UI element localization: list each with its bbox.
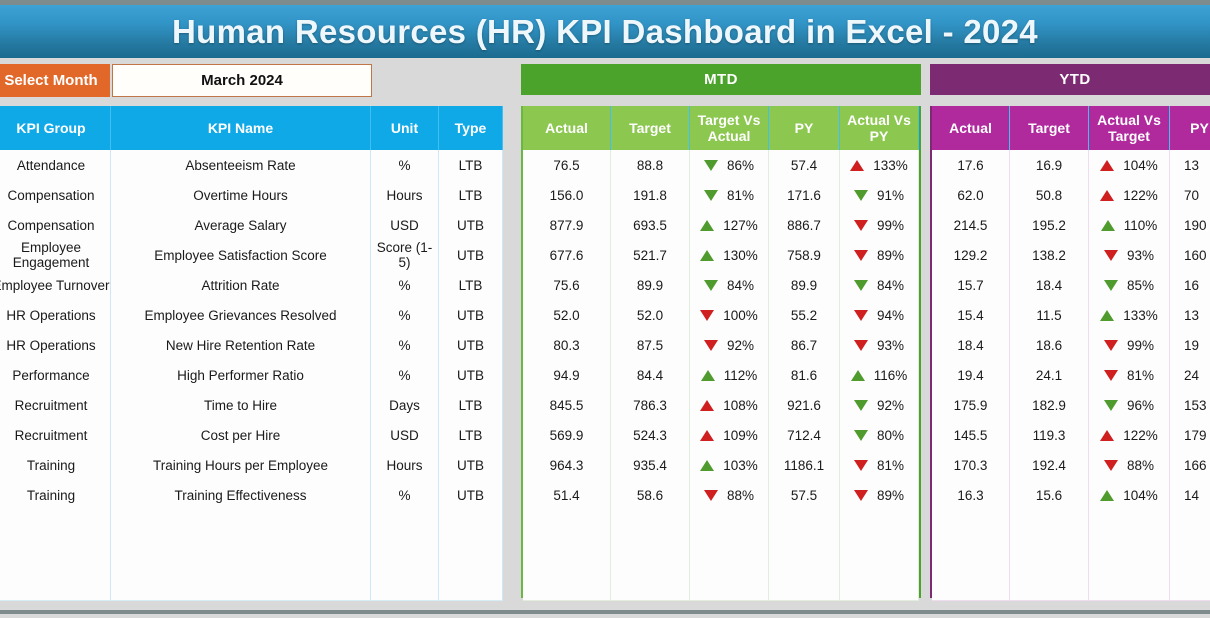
ytd-actual: 17.6: [932, 150, 1010, 180]
table-cell-group: Employee Engagement: [0, 240, 111, 270]
ytd-actual: 175.9: [932, 390, 1010, 420]
table-cell-type: UTB: [439, 210, 503, 240]
select-month-label: Select Month: [0, 64, 110, 97]
delta-percent: 85%: [1127, 278, 1154, 293]
ytd-py: 160: [1170, 240, 1210, 270]
mtd-column-header-target[interactable]: Target: [611, 106, 690, 150]
table-cell-group: Employee Turnover: [0, 270, 111, 300]
mtd-cell-empty: [769, 570, 840, 600]
delta-percent: 99%: [877, 218, 904, 233]
arrow-down-icon: [704, 280, 718, 291]
table-cell-unit: Days: [371, 390, 439, 420]
table-cell-group: Recruitment: [0, 420, 111, 450]
mtd-cell-empty: [769, 510, 840, 540]
arrow-down-icon: [704, 490, 718, 501]
ytd-actual-vs-target: 122%: [1089, 420, 1170, 450]
table-cell-empty: [439, 540, 503, 570]
ytd-column-header-py[interactable]: PY: [1170, 106, 1210, 150]
table-cell-empty: [439, 570, 503, 600]
arrow-up-icon: [1100, 430, 1114, 441]
table-cell-name: Cost per Hire: [111, 420, 371, 450]
ytd-actual-vs-target: 93%: [1089, 240, 1170, 270]
ytd-target: 15.6: [1010, 480, 1089, 510]
arrow-down-icon: [854, 430, 868, 441]
mtd-cell-empty: [690, 540, 769, 570]
mtd-py: 55.2: [769, 300, 840, 330]
ytd-column-header-target[interactable]: Target: [1010, 106, 1089, 150]
mtd-target-vs-actual: 84%: [690, 270, 769, 300]
table-cell-empty: [0, 570, 111, 600]
delta-percent: 81%: [727, 188, 754, 203]
mtd-target: 935.4: [611, 450, 690, 480]
mtd-band-label: MTD: [521, 64, 921, 95]
mtd-target: 693.5: [611, 210, 690, 240]
mtd-column-header-actual[interactable]: Actual: [523, 106, 611, 150]
arrow-up-icon: [700, 220, 714, 231]
mtd-target-vs-actual: 127%: [690, 210, 769, 240]
mtd-target-vs-actual: 112%: [690, 360, 769, 390]
ytd-actual: 15.7: [932, 270, 1010, 300]
ytd-cell-empty: [1170, 540, 1210, 570]
mtd-actual-vs-py: 80%: [840, 420, 919, 450]
table-cell-group: Compensation: [0, 210, 111, 240]
ytd-py: 166: [1170, 450, 1210, 480]
ytd-cell-empty: [1010, 540, 1089, 570]
mtd-actual: 569.9: [523, 420, 611, 450]
table-cell-type: UTB: [439, 240, 503, 270]
table-cell-group: Training: [0, 450, 111, 480]
arrow-up-icon: [1100, 160, 1114, 171]
ytd-cell-empty: [932, 540, 1010, 570]
delta-percent: 89%: [877, 248, 904, 263]
table-cell-type: LTB: [439, 270, 503, 300]
mtd-actual: 677.6: [523, 240, 611, 270]
arrow-down-icon: [854, 250, 868, 261]
delta-percent: 92%: [877, 398, 904, 413]
mtd-py: 886.7: [769, 210, 840, 240]
arrow-up-icon: [701, 370, 715, 381]
arrow-down-icon: [854, 400, 868, 411]
arrow-up-icon: [1100, 490, 1114, 501]
mtd-cell-empty: [523, 540, 611, 570]
table-cell-type: UTB: [439, 450, 503, 480]
delta-percent: 112%: [724, 368, 758, 383]
delta-percent: 81%: [1127, 368, 1154, 383]
ytd-cell-empty: [932, 570, 1010, 600]
dashboard-title-bar: Human Resources (HR) KPI Dashboard in Ex…: [0, 5, 1210, 58]
ytd-actual-vs-target: 104%: [1089, 480, 1170, 510]
table-cell-type: UTB: [439, 480, 503, 510]
mtd-table: ActualTargetTarget Vs ActualPYActual Vs …: [521, 106, 921, 598]
mtd-column-header-py[interactable]: PY: [769, 106, 840, 150]
delta-percent: 84%: [727, 278, 754, 293]
arrow-down-icon: [700, 310, 714, 321]
table-cell-unit: Hours: [371, 180, 439, 210]
mtd-cell-empty: [611, 510, 690, 540]
table-cell-unit: %: [371, 480, 439, 510]
arrow-down-icon: [1104, 250, 1118, 261]
ytd-actual-vs-target: 110%: [1089, 210, 1170, 240]
mtd-target-vs-actual: 88%: [690, 480, 769, 510]
mtd-py: 57.4: [769, 150, 840, 180]
mtd-target-vs-actual: 86%: [690, 150, 769, 180]
delta-percent: 91%: [877, 188, 904, 203]
mtd-target: 87.5: [611, 330, 690, 360]
mtd-actual-vs-py: 89%: [840, 240, 919, 270]
delta-percent: 88%: [727, 488, 754, 503]
arrow-up-icon: [1100, 190, 1114, 201]
table-cell-unit: %: [371, 150, 439, 180]
ytd-actual: 16.3: [932, 480, 1010, 510]
ytd-py: 24: [1170, 360, 1210, 390]
ytd-cell-empty: [1089, 510, 1170, 540]
ytd-actual-vs-target: 133%: [1089, 300, 1170, 330]
arrow-up-icon: [700, 250, 714, 261]
ytd-table: ActualTargetActual Vs TargetPY 17.616.91…: [930, 106, 1210, 598]
ytd-band-label: YTD: [930, 64, 1210, 95]
ytd-py: 14: [1170, 480, 1210, 510]
table-cell-group: Recruitment: [0, 390, 111, 420]
mtd-target-vs-actual: 81%: [690, 180, 769, 210]
ytd-cell-empty: [1010, 510, 1089, 540]
ytd-column-header-actual[interactable]: Actual: [932, 106, 1010, 150]
arrow-down-icon: [854, 280, 868, 291]
mtd-actual: 964.3: [523, 450, 611, 480]
table-cell-type: LTB: [439, 390, 503, 420]
delta-percent: 104%: [1123, 488, 1158, 503]
kpi-info-header-row: KPI GroupKPI NameUnitType: [0, 106, 503, 150]
delta-percent: 109%: [723, 428, 758, 443]
ytd-py: 16: [1170, 270, 1210, 300]
delta-percent: 108%: [723, 398, 758, 413]
table-cell-name: New Hire Retention Rate: [111, 330, 371, 360]
arrow-down-icon: [854, 220, 868, 231]
table-cell-unit: %: [371, 360, 439, 390]
delta-percent: 122%: [1123, 188, 1158, 203]
mtd-target: 84.4: [611, 360, 690, 390]
ytd-target: 50.8: [1010, 180, 1089, 210]
table-cell-group: Performance: [0, 360, 111, 390]
delta-percent: 127%: [723, 218, 758, 233]
delta-percent: 104%: [1123, 158, 1158, 173]
mtd-actual-vs-py: 99%: [840, 210, 919, 240]
ytd-target: 195.2: [1010, 210, 1089, 240]
table-cell-empty: [439, 510, 503, 540]
delta-percent: 122%: [1123, 428, 1158, 443]
ytd-actual: 129.2: [932, 240, 1010, 270]
delta-percent: 92%: [727, 338, 754, 353]
table-cell-name: Time to Hire: [111, 390, 371, 420]
mtd-target-vs-actual: 103%: [690, 450, 769, 480]
page-title: Human Resources (HR) KPI Dashboard in Ex…: [172, 13, 1038, 51]
table-cell-name: Training Hours per Employee: [111, 450, 371, 480]
delta-percent: 94%: [877, 308, 904, 323]
delta-percent: 100%: [723, 308, 758, 323]
mtd-cell-empty: [523, 570, 611, 600]
ytd-actual-vs-target: 96%: [1089, 390, 1170, 420]
mtd-target-vs-actual: 109%: [690, 420, 769, 450]
table-cell-unit: Hours: [371, 450, 439, 480]
ytd-cell-empty: [1170, 570, 1210, 600]
ytd-target: 24.1: [1010, 360, 1089, 390]
mtd-target: 89.9: [611, 270, 690, 300]
ytd-actual: 15.4: [932, 300, 1010, 330]
delta-percent: 96%: [1127, 398, 1154, 413]
ytd-target: 192.4: [1010, 450, 1089, 480]
ytd-cell-empty: [1089, 570, 1170, 600]
mtd-target-vs-actual: 108%: [690, 390, 769, 420]
mtd-py: 89.9: [769, 270, 840, 300]
mtd-target: 52.0: [611, 300, 690, 330]
table-cell-name: Attrition Rate: [111, 270, 371, 300]
column-header-type[interactable]: Type: [439, 106, 503, 150]
mtd-actual: 156.0: [523, 180, 611, 210]
ytd-cell-empty: [932, 510, 1010, 540]
mtd-target: 58.6: [611, 480, 690, 510]
mtd-column-header-actual-vs-py[interactable]: Actual Vs PY: [840, 106, 919, 150]
column-header-unit[interactable]: Unit: [371, 106, 439, 150]
ytd-target: 138.2: [1010, 240, 1089, 270]
arrow-down-icon: [854, 190, 868, 201]
table-cell-unit: USD: [371, 210, 439, 240]
arrow-up-icon: [1100, 310, 1114, 321]
mtd-actual-vs-py: 84%: [840, 270, 919, 300]
arrow-down-icon: [704, 160, 718, 171]
ytd-target: 18.4: [1010, 270, 1089, 300]
table-cell-group: HR Operations: [0, 300, 111, 330]
mtd-target: 521.7: [611, 240, 690, 270]
arrow-down-icon: [1104, 400, 1118, 411]
delta-percent: 133%: [873, 158, 908, 173]
mtd-actual-vs-py: 89%: [840, 480, 919, 510]
arrow-down-icon: [1104, 460, 1118, 471]
delta-percent: 88%: [1127, 458, 1154, 473]
delta-percent: 86%: [727, 158, 754, 173]
arrow-up-icon: [700, 460, 714, 471]
mtd-cell-empty: [611, 540, 690, 570]
mtd-cell-empty: [840, 570, 919, 600]
ytd-column-header-actual-vs-target[interactable]: Actual Vs Target: [1089, 106, 1170, 150]
mtd-cell-empty: [840, 510, 919, 540]
table-cell-unit: %: [371, 300, 439, 330]
arrow-up-icon: [700, 430, 714, 441]
arrow-down-icon: [854, 340, 868, 351]
ytd-actual-vs-target: 104%: [1089, 150, 1170, 180]
mtd-target: 191.8: [611, 180, 690, 210]
ytd-target: 182.9: [1010, 390, 1089, 420]
ytd-target: 18.6: [1010, 330, 1089, 360]
table-cell-unit: %: [371, 270, 439, 300]
table-cell-type: LTB: [439, 180, 503, 210]
ytd-actual: 145.5: [932, 420, 1010, 450]
mtd-py: 81.6: [769, 360, 840, 390]
mtd-cell-empty: [611, 570, 690, 600]
mtd-py: 921.6: [769, 390, 840, 420]
table-cell-type: LTB: [439, 150, 503, 180]
ytd-py: 190: [1170, 210, 1210, 240]
bottom-divider: [0, 610, 1210, 614]
ytd-actual-vs-target: 88%: [1089, 450, 1170, 480]
table-cell-type: UTB: [439, 330, 503, 360]
table-cell-name: Training Effectiveness: [111, 480, 371, 510]
delta-percent: 93%: [1127, 248, 1154, 263]
table-cell-type: UTB: [439, 300, 503, 330]
ytd-py: 13: [1170, 300, 1210, 330]
table-cell-name: Employee Satisfaction Score: [111, 240, 371, 270]
arrow-down-icon: [704, 340, 718, 351]
mtd-target: 88.8: [611, 150, 690, 180]
table-cell-unit: %: [371, 330, 439, 360]
table-cell-empty: [371, 510, 439, 540]
arrow-up-icon: [851, 370, 865, 381]
table-cell-name: Employee Grievances Resolved: [111, 300, 371, 330]
mtd-py: 712.4: [769, 420, 840, 450]
row-separator: [932, 600, 1210, 601]
table-cell-group: Attendance: [0, 150, 111, 180]
mtd-target: 786.3: [611, 390, 690, 420]
select-month-dropdown[interactable]: March 2024: [112, 64, 372, 97]
ytd-py: 70: [1170, 180, 1210, 210]
column-header-kpi-name[interactable]: KPI Name: [111, 106, 371, 150]
table-cell-unit: Score (1-5): [371, 240, 439, 270]
arrow-up-icon: [700, 400, 714, 411]
mtd-cell-empty: [523, 510, 611, 540]
arrow-down-icon: [1104, 340, 1118, 351]
mtd-py: 86.7: [769, 330, 840, 360]
mtd-cell-empty: [769, 540, 840, 570]
mtd-actual-vs-py: 94%: [840, 300, 919, 330]
ytd-target: 119.3: [1010, 420, 1089, 450]
table-cell-empty: [371, 570, 439, 600]
mtd-target-vs-actual: 92%: [690, 330, 769, 360]
delta-percent: 81%: [877, 458, 904, 473]
delta-percent: 133%: [1123, 308, 1158, 323]
mtd-actual: 845.5: [523, 390, 611, 420]
arrow-up-icon: [850, 160, 864, 171]
ytd-actual: 18.4: [932, 330, 1010, 360]
column-header-kpi-group[interactable]: KPI Group: [0, 106, 111, 150]
ytd-actual: 170.3: [932, 450, 1010, 480]
arrow-down-icon: [854, 490, 868, 501]
mtd-column-header-target-vs-actual[interactable]: Target Vs Actual: [690, 106, 769, 150]
mtd-actual: 52.0: [523, 300, 611, 330]
mtd-target-vs-actual: 130%: [690, 240, 769, 270]
delta-percent: 116%: [874, 368, 908, 383]
ytd-py: 153: [1170, 390, 1210, 420]
mtd-actual: 80.3: [523, 330, 611, 360]
delta-percent: 99%: [1127, 338, 1154, 353]
ytd-actual: 62.0: [932, 180, 1010, 210]
delta-percent: 110%: [1124, 218, 1158, 233]
mtd-actual-vs-py: 93%: [840, 330, 919, 360]
delta-percent: 84%: [877, 278, 904, 293]
arrow-down-icon: [1104, 280, 1118, 291]
mtd-actual: 51.4: [523, 480, 611, 510]
table-cell-group: HR Operations: [0, 330, 111, 360]
table-cell-empty: [111, 510, 371, 540]
mtd-target: 524.3: [611, 420, 690, 450]
delta-percent: 80%: [877, 428, 904, 443]
mtd-actual-vs-py: 133%: [840, 150, 919, 180]
ytd-py: 19: [1170, 330, 1210, 360]
table-cell-type: UTB: [439, 360, 503, 390]
delta-percent: 130%: [723, 248, 758, 263]
table-cell-group: Compensation: [0, 180, 111, 210]
table-cell-empty: [0, 510, 111, 540]
table-cell-empty: [0, 540, 111, 570]
mtd-py: 171.6: [769, 180, 840, 210]
mtd-cell-empty: [690, 570, 769, 600]
ytd-actual: 214.5: [932, 210, 1010, 240]
ytd-actual-vs-target: 99%: [1089, 330, 1170, 360]
ytd-py: 179: [1170, 420, 1210, 450]
mtd-cell-empty: [690, 510, 769, 540]
mtd-py: 1186.1: [769, 450, 840, 480]
arrow-down-icon: [704, 190, 718, 201]
table-cell-group: Training: [0, 480, 111, 510]
delta-percent: 89%: [877, 488, 904, 503]
arrow-down-icon: [854, 310, 868, 321]
table-cell-type: LTB: [439, 420, 503, 450]
ytd-actual-vs-target: 122%: [1089, 180, 1170, 210]
arrow-down-icon: [1104, 370, 1118, 381]
mtd-actual: 75.6: [523, 270, 611, 300]
table-cell-name: High Performer Ratio: [111, 360, 371, 390]
ytd-cell-empty: [1170, 510, 1210, 540]
dashboard-root: Human Resources (HR) KPI Dashboard in Ex…: [0, 0, 1210, 618]
ytd-actual: 19.4: [932, 360, 1010, 390]
mtd-target-vs-actual: 100%: [690, 300, 769, 330]
ytd-actual-vs-target: 81%: [1089, 360, 1170, 390]
delta-percent: 103%: [723, 458, 758, 473]
ytd-target: 11.5: [1010, 300, 1089, 330]
table-cell-name: Absenteeism Rate: [111, 150, 371, 180]
table-cell-unit: USD: [371, 420, 439, 450]
mtd-actual: 877.9: [523, 210, 611, 240]
mtd-actual-vs-py: 91%: [840, 180, 919, 210]
ytd-actual-vs-target: 85%: [1089, 270, 1170, 300]
ytd-cell-empty: [1010, 570, 1089, 600]
table-cell-name: Average Salary: [111, 210, 371, 240]
ytd-cell-empty: [1089, 540, 1170, 570]
mtd-header-row: ActualTargetTarget Vs ActualPYActual Vs …: [523, 106, 919, 150]
arrow-down-icon: [854, 460, 868, 471]
ytd-target: 16.9: [1010, 150, 1089, 180]
mtd-py: 57.5: [769, 480, 840, 510]
table-cell-empty: [111, 570, 371, 600]
mtd-py: 758.9: [769, 240, 840, 270]
row-separator: [0, 600, 503, 601]
mtd-actual-vs-py: 81%: [840, 450, 919, 480]
mtd-actual: 76.5: [523, 150, 611, 180]
mtd-actual-vs-py: 92%: [840, 390, 919, 420]
row-separator: [523, 600, 919, 601]
table-cell-empty: [371, 540, 439, 570]
delta-percent: 93%: [877, 338, 904, 353]
table-cell-name: Overtime Hours: [111, 180, 371, 210]
table-cell-empty: [111, 540, 371, 570]
mtd-cell-empty: [840, 540, 919, 570]
mtd-actual-vs-py: 116%: [840, 360, 919, 390]
mtd-actual: 94.9: [523, 360, 611, 390]
ytd-header-row: ActualTargetActual Vs TargetPY: [932, 106, 1210, 150]
ytd-py: 13: [1170, 150, 1210, 180]
kpi-info-table: KPI GroupKPI NameUnitType AttendanceAbse…: [0, 106, 503, 598]
arrow-up-icon: [1101, 220, 1115, 231]
